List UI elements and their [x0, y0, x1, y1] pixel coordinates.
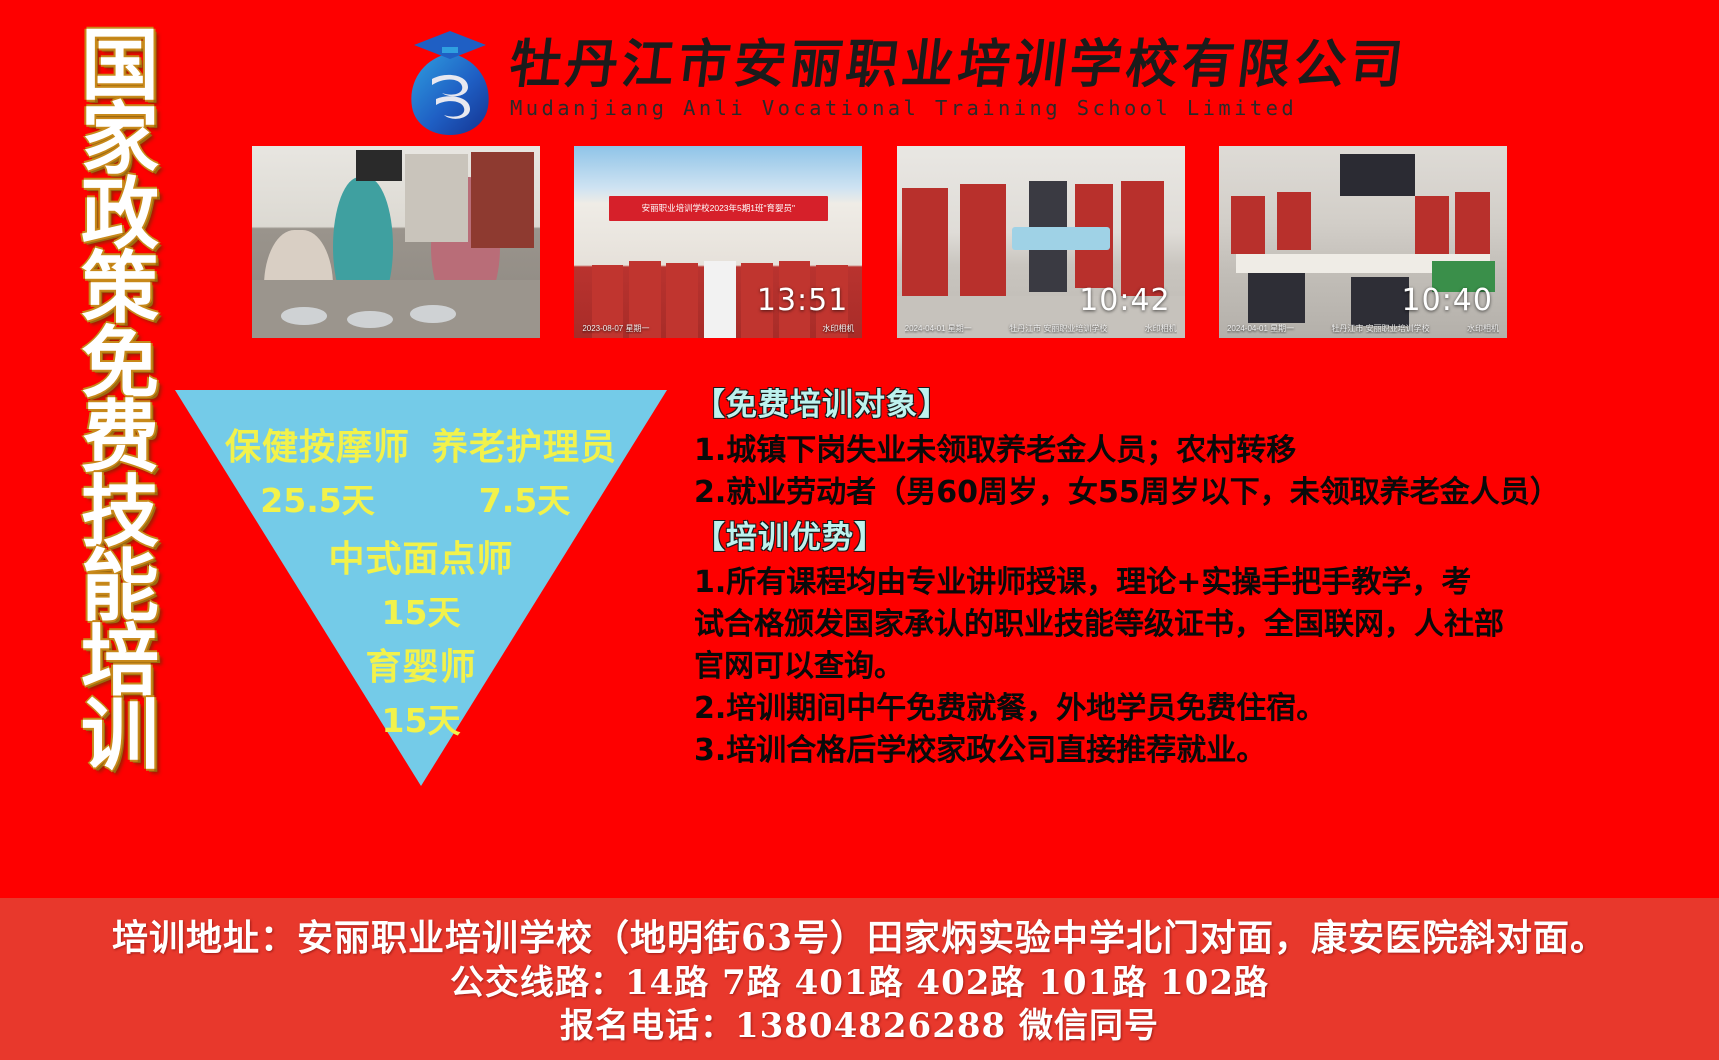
- vertical-title-char: 政: [81, 177, 159, 253]
- course-duration: 15天: [382, 694, 461, 742]
- photo-timestamp: 13:51: [757, 283, 848, 318]
- group-photo-2023: 安丽职业培训学校2023年5期1班"育婴员" 13:51 2023-08-07 …: [574, 146, 862, 338]
- photo-watermark: 水印相机: [1467, 323, 1499, 334]
- vertical-title-char: 训: [81, 698, 159, 774]
- photo-date: 2024-04-01 星期一: [905, 323, 972, 334]
- school-name-cn: 牡丹江市安丽职业培训学校有限公司: [507, 38, 1410, 93]
- school-header: 牡丹江市安丽职业培训学校有限公司 Mudanjiang Anli Vocatio…: [398, 18, 1318, 140]
- vertical-title-char: 策: [81, 251, 159, 327]
- course-item: 中式面点师 15天: [175, 530, 667, 634]
- photo-meta: 2023-08-07 星期一 水印相机: [582, 323, 854, 334]
- course-item: 养老护理员 7.5天: [432, 418, 617, 522]
- pastry-class-photo: [252, 146, 540, 338]
- school-name-en: Mudanjiang Anli Vocational Training Scho…: [510, 96, 1406, 120]
- vertical-title: 国 家 政 策 免 费 技 能 培 训: [72, 28, 168, 772]
- photo-watermark: 水印相机: [822, 323, 854, 334]
- vertical-title-char: 能: [81, 549, 159, 625]
- advantage-item: 3.培训合格后学校家政公司直接推荐就业。: [694, 731, 1704, 771]
- course-item: 保健按摩师 25.5天: [225, 418, 410, 522]
- eligibility-item: 1.城镇下岗失业未领取养老金人员；农村转移: [694, 431, 1704, 471]
- course-name: 中式面点师: [328, 530, 513, 582]
- contact-footer: 培训地址：安丽职业培训学校（地明街63号）田家炳实验中学北门对面，康安医院斜对面…: [0, 898, 1719, 1060]
- photo-meta: 2024-04-01 星期一 牡丹江市 安丽职业培训学校 水印相机: [1227, 323, 1499, 334]
- advantage-item: 试合格颁发国家承认的职业技能等级证书，全国联网，人社部: [694, 605, 1704, 645]
- photo-meta: 2024-04-01 星期一 牡丹江市 安丽职业培训学校 水印相机: [905, 323, 1177, 334]
- school-name-block: 牡丹江市安丽职业培训学校有限公司 Mudanjiang Anli Vocatio…: [510, 38, 1406, 121]
- course-name: 保健按摩师: [225, 418, 410, 470]
- poster-root: 国 家 政 策 免 费 技 能 培 训: [0, 0, 1719, 1060]
- vertical-title-char: 家: [81, 102, 159, 178]
- vertical-title-char: 免: [81, 326, 159, 402]
- advantage-item: 官网可以查询。: [694, 647, 1704, 687]
- eligibility-heading: 【免费培训对象】: [694, 386, 1704, 425]
- elderly-care-practice-photo: 10:42 2024-04-01 星期一 牡丹江市 安丽职业培训学校 水印相机: [897, 146, 1185, 338]
- footer-address: 培训地址：安丽职业培训学校（地明街63号）田家炳实验中学北门对面，康安医院斜对面…: [112, 916, 1607, 961]
- advantages-heading: 【培训优势】: [694, 519, 1704, 558]
- eligibility-item: 2.就业劳动者（男60周岁，女55周岁以下，未领取养老金人员）: [694, 473, 1704, 513]
- photo-strip: 安丽职业培训学校2023年5期1班"育婴员" 13:51 2023-08-07 …: [252, 146, 1507, 346]
- graduation-cap-logo-icon: [398, 23, 502, 135]
- vertical-title-char: 国: [81, 28, 159, 104]
- course-name: 育婴师: [365, 638, 476, 690]
- photo-place: 牡丹江市 安丽职业培训学校: [1009, 323, 1107, 334]
- photo-watermark: 水印相机: [1145, 323, 1177, 334]
- course-duration: 25.5天: [260, 474, 374, 522]
- photo-banner: 安丽职业培训学校2023年5期1班"育婴员": [609, 196, 828, 221]
- advantage-item: 2.培训期间中午免费就餐，外地学员免费住宿。: [694, 689, 1704, 729]
- course-triangle: 保健按摩师 25.5天 养老护理员 7.5天 中式面点师 15天 育婴师 15天: [175, 390, 667, 786]
- course-name: 养老护理员: [432, 418, 617, 470]
- photo-date: 2023-08-07 星期一: [582, 323, 649, 334]
- course-duration: 15天: [382, 586, 461, 634]
- photo-timestamp: 10:40: [1402, 283, 1493, 318]
- vertical-title-char: 培: [81, 624, 159, 700]
- course-row-top: 保健按摩师 25.5天 养老护理员 7.5天: [175, 418, 667, 522]
- course-duration: 7.5天: [479, 474, 570, 522]
- info-column: 【免费培训对象】 1.城镇下岗失业未领取养老金人员；农村转移 2.就业劳动者（男…: [694, 386, 1704, 773]
- photo-place: 牡丹江市 安丽职业培训学校: [1331, 323, 1429, 334]
- advantage-item: 1.所有课程均由专业讲师授课，理论+实操手把手教学，考: [694, 563, 1704, 603]
- classroom-photo: 10:40 2024-04-01 星期一 牡丹江市 安丽职业培训学校 水印相机: [1219, 146, 1507, 338]
- course-item: 育婴师 15天: [175, 638, 667, 742]
- photo-timestamp: 10:42: [1079, 283, 1170, 318]
- photo-date: 2024-04-01 星期一: [1227, 323, 1294, 334]
- vertical-title-char: 技: [81, 475, 159, 551]
- vertical-title-char: 费: [81, 400, 159, 476]
- footer-phone[interactable]: 报名电话：13804826288 微信同号: [560, 1005, 1159, 1048]
- footer-bus-routes: 公交线路：14路 7路 401路 402路 101路 102路: [450, 962, 1269, 1005]
- triangle-text-layer: 保健按摩师 25.5天 养老护理员 7.5天 中式面点师 15天 育婴师 15天: [175, 390, 667, 786]
